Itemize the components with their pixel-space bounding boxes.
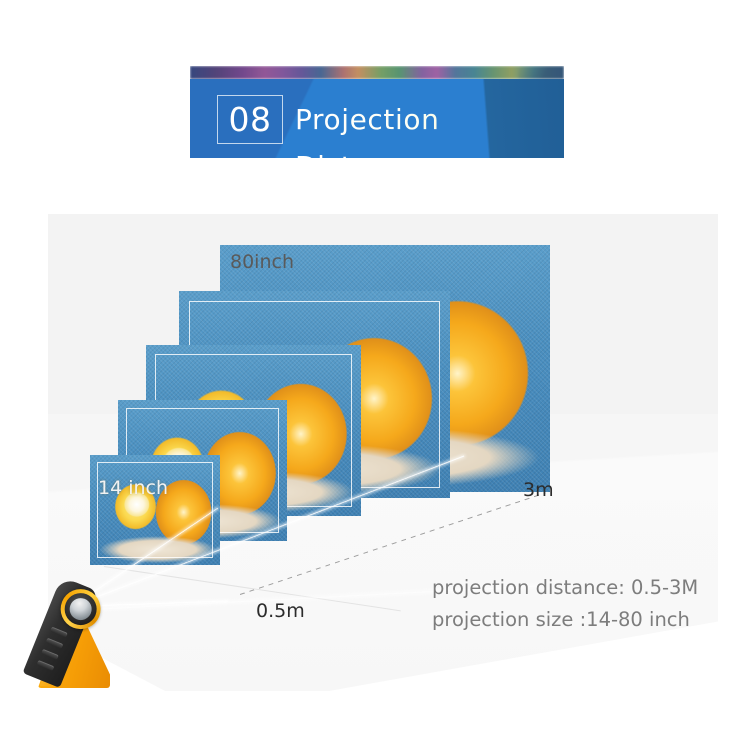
- spec-line-distance: projection distance: 0.5-3M: [432, 572, 712, 604]
- distance-label-far: 3m: [523, 479, 554, 501]
- section-header-banner: 08 Projection Distance: [190, 66, 564, 158]
- projector-device-icon: [38, 584, 146, 688]
- distance-label-near: 0.5m: [256, 600, 305, 622]
- banner-body: 08 Projection Distance: [190, 79, 564, 158]
- projector-lens-bezel: [60, 588, 102, 630]
- section-number-box: 08: [217, 95, 283, 144]
- projector-vent: [50, 627, 68, 638]
- projector-lens-ring: [55, 583, 107, 635]
- page-title: Projection Distance: [295, 96, 564, 158]
- product-infographic-page: 08 Projection Distance 80inch: [0, 0, 750, 750]
- projector-vent: [41, 649, 59, 660]
- specification-text-block: projection distance: 0.5-3M projection s…: [432, 572, 712, 636]
- spec-line-size: projection size :14-80 inch: [432, 604, 712, 636]
- screen-size-label: 80inch: [230, 251, 294, 273]
- section-number: 08: [229, 103, 272, 136]
- projector-vent: [46, 638, 64, 649]
- projector-lens-glass: [66, 595, 95, 624]
- colorful-photo-strip-icon: [190, 66, 564, 79]
- projector-vent: [37, 660, 55, 671]
- screen-size-label: 14 inch: [98, 477, 168, 499]
